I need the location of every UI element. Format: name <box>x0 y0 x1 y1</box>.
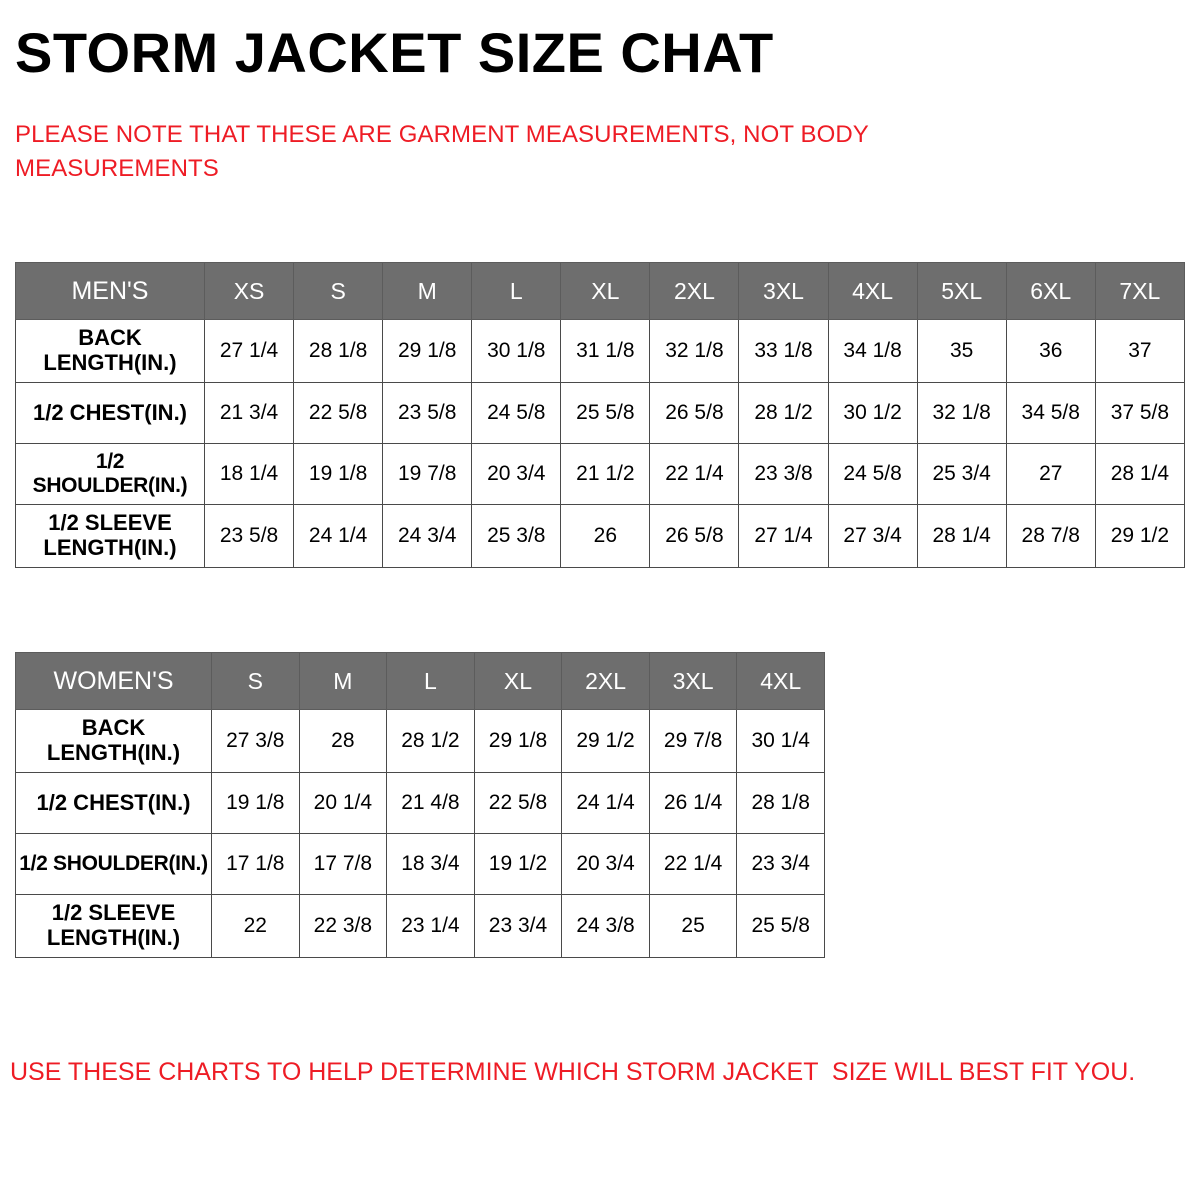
mens-table-body: BACK LENGTH(IN.)27 1/428 1/829 1/830 1/8… <box>16 320 1185 568</box>
measurement-cell: 28 <box>299 710 387 773</box>
row-label-0: BACK LENGTH(IN.) <box>16 710 212 773</box>
measurement-cell: 27 3/8 <box>212 710 300 773</box>
column-header-2xl: 2XL <box>650 263 739 320</box>
measurement-cell: 33 1/8 <box>739 320 828 383</box>
measurement-cell: 34 5/8 <box>1006 383 1095 444</box>
measurement-cell: 27 <box>1006 444 1095 505</box>
measurement-cell: 18 1/4 <box>205 444 294 505</box>
measurement-cell: 21 1/2 <box>561 444 650 505</box>
measurement-cell: 24 1/4 <box>294 505 383 568</box>
measurement-cell: 29 7/8 <box>649 710 737 773</box>
measurement-cell: 35 <box>917 320 1006 383</box>
table-row: 1/2 SHOULDER(IN.)18 1/419 1/819 7/820 3/… <box>16 444 1185 505</box>
measurement-cell: 36 <box>1006 320 1095 383</box>
row-label-1: 1/2 CHEST(IN.) <box>16 383 205 444</box>
column-header-6xl: 6XL <box>1006 263 1095 320</box>
measurement-cell: 22 3/8 <box>299 895 387 958</box>
table-row: 1/2 CHEST(IN.)19 1/820 1/421 4/822 5/824… <box>16 773 825 834</box>
measurement-cell: 25 3/4 <box>917 444 1006 505</box>
measurement-cell: 19 1/8 <box>212 773 300 834</box>
measurement-cell: 21 4/8 <box>387 773 475 834</box>
table-row: 1/2 CHEST(IN.)21 3/422 5/823 5/824 5/825… <box>16 383 1185 444</box>
column-header-4xl: 4XL <box>828 263 917 320</box>
measurement-cell: 22 1/4 <box>649 834 737 895</box>
measurement-cell: 18 3/4 <box>387 834 475 895</box>
measurement-cell: 19 1/8 <box>294 444 383 505</box>
measurement-cell: 32 1/8 <box>650 320 739 383</box>
measurement-cell: 25 5/8 <box>561 383 650 444</box>
measurement-cell: 29 1/2 <box>562 710 650 773</box>
size-chart-page: STORM JACKET SIZE CHAT PLEASE NOTE THAT … <box>0 0 1200 1200</box>
garment-measurement-note: PLEASE NOTE THAT THESE ARE GARMENT MEASU… <box>15 118 975 186</box>
measurement-cell: 23 3/8 <box>739 444 828 505</box>
row-label-2: 1/2 SHOULDER(IN.) <box>16 444 205 505</box>
row-label-1: 1/2 CHEST(IN.) <box>16 773 212 834</box>
row-label-2: 1/2 SHOULDER(IN.) <box>16 834 212 895</box>
table-row: BACK LENGTH(IN.)27 1/428 1/829 1/830 1/8… <box>16 320 1185 383</box>
measurement-cell: 37 5/8 <box>1095 383 1184 444</box>
measurement-cell: 22 5/8 <box>294 383 383 444</box>
measurement-cell: 34 1/8 <box>828 320 917 383</box>
column-header-3xl: 3XL <box>649 653 737 710</box>
measurement-cell: 31 1/8 <box>561 320 650 383</box>
measurement-cell: 19 1/2 <box>474 834 562 895</box>
measurement-cell: 24 5/8 <box>472 383 561 444</box>
column-header-l: L <box>472 263 561 320</box>
measurement-cell: 19 7/8 <box>383 444 472 505</box>
measurement-cell: 30 1/2 <box>828 383 917 444</box>
measurement-cell: 30 1/8 <box>472 320 561 383</box>
measurement-cell: 24 5/8 <box>828 444 917 505</box>
measurement-cell: 24 1/4 <box>562 773 650 834</box>
measurement-cell: 26 1/4 <box>649 773 737 834</box>
womens-table-body: BACK LENGTH(IN.)27 3/82828 1/229 1/829 1… <box>16 710 825 958</box>
measurement-cell: 23 3/4 <box>474 895 562 958</box>
measurement-cell: 29 1/8 <box>474 710 562 773</box>
measurement-cell: 17 7/8 <box>299 834 387 895</box>
column-header-xs: XS <box>205 263 294 320</box>
column-header-2xl: 2XL <box>562 653 650 710</box>
womens-table-header: WOMEN'SSMLXL2XL3XL4XL <box>16 653 825 710</box>
column-header-xl: XL <box>561 263 650 320</box>
measurement-cell: 25 <box>649 895 737 958</box>
mens-table-header: MEN'SXSSMLXL2XL3XL4XL5XL6XL7XL <box>16 263 1185 320</box>
measurement-cell: 23 5/8 <box>383 383 472 444</box>
measurement-cell: 23 3/4 <box>737 834 825 895</box>
measurement-cell: 27 3/4 <box>828 505 917 568</box>
column-header-7xl: 7XL <box>1095 263 1184 320</box>
measurement-cell: 24 3/4 <box>383 505 472 568</box>
column-header-m: M <box>299 653 387 710</box>
table-header-row: WOMEN'SSMLXL2XL3XL4XL <box>16 653 825 710</box>
column-header-4xl: 4XL <box>737 653 825 710</box>
page-title: STORM JACKET SIZE CHAT <box>15 24 774 83</box>
measurement-cell: 22 5/8 <box>474 773 562 834</box>
measurement-cell: 23 5/8 <box>205 505 294 568</box>
column-header-xl: XL <box>474 653 562 710</box>
womens-corner-header: WOMEN'S <box>16 653 212 710</box>
measurement-cell: 20 3/4 <box>562 834 650 895</box>
measurement-cell: 22 1/4 <box>650 444 739 505</box>
table-header-row: MEN'SXSSMLXL2XL3XL4XL5XL6XL7XL <box>16 263 1185 320</box>
mens-size-table: MEN'SXSSMLXL2XL3XL4XL5XL6XL7XL BACK LENG… <box>15 262 1185 568</box>
mens-corner-header: MEN'S <box>16 263 205 320</box>
measurement-cell: 21 3/4 <box>205 383 294 444</box>
row-label-3: 1/2 SLEEVE LENGTH(IN.) <box>16 895 212 958</box>
measurement-cell: 29 1/8 <box>383 320 472 383</box>
column-header-s: S <box>212 653 300 710</box>
measurement-cell: 25 3/8 <box>472 505 561 568</box>
measurement-cell: 23 1/4 <box>387 895 475 958</box>
measurement-cell: 28 1/4 <box>1095 444 1184 505</box>
table-row: 1/2 SLEEVE LENGTH(IN.)2222 3/823 1/423 3… <box>16 895 825 958</box>
measurement-cell: 28 1/8 <box>294 320 383 383</box>
measurement-cell: 25 5/8 <box>737 895 825 958</box>
row-label-3: 1/2 SLEEVE LENGTH(IN.) <box>16 505 205 568</box>
table-row: 1/2 SHOULDER(IN.)17 1/817 7/818 3/419 1/… <box>16 834 825 895</box>
measurement-cell: 28 1/2 <box>739 383 828 444</box>
measurement-cell: 27 1/4 <box>205 320 294 383</box>
measurement-cell: 22 <box>212 895 300 958</box>
measurement-cell: 28 1/4 <box>917 505 1006 568</box>
womens-size-table: WOMEN'SSMLXL2XL3XL4XL BACK LENGTH(IN.)27… <box>15 652 825 958</box>
measurement-cell: 28 1/2 <box>387 710 475 773</box>
column-header-3xl: 3XL <box>739 263 828 320</box>
measurement-cell: 20 1/4 <box>299 773 387 834</box>
measurement-cell: 32 1/8 <box>917 383 1006 444</box>
table-row: BACK LENGTH(IN.)27 3/82828 1/229 1/829 1… <box>16 710 825 773</box>
measurement-cell: 30 1/4 <box>737 710 825 773</box>
measurement-cell: 17 1/8 <box>212 834 300 895</box>
measurement-cell: 24 3/8 <box>562 895 650 958</box>
column-header-5xl: 5XL <box>917 263 1006 320</box>
measurement-cell: 37 <box>1095 320 1184 383</box>
help-determine-size-note: USE THESE CHARTS TO HELP DETERMINE WHICH… <box>10 1058 1190 1087</box>
column-header-m: M <box>383 263 472 320</box>
measurement-cell: 28 1/8 <box>737 773 825 834</box>
table-row: 1/2 SLEEVE LENGTH(IN.)23 5/824 1/424 3/4… <box>16 505 1185 568</box>
measurement-cell: 29 1/2 <box>1095 505 1184 568</box>
column-header-l: L <box>387 653 475 710</box>
measurement-cell: 26 5/8 <box>650 505 739 568</box>
row-label-0: BACK LENGTH(IN.) <box>16 320 205 383</box>
measurement-cell: 28 7/8 <box>1006 505 1095 568</box>
measurement-cell: 26 <box>561 505 650 568</box>
measurement-cell: 20 3/4 <box>472 444 561 505</box>
measurement-cell: 26 5/8 <box>650 383 739 444</box>
column-header-s: S <box>294 263 383 320</box>
measurement-cell: 27 1/4 <box>739 505 828 568</box>
